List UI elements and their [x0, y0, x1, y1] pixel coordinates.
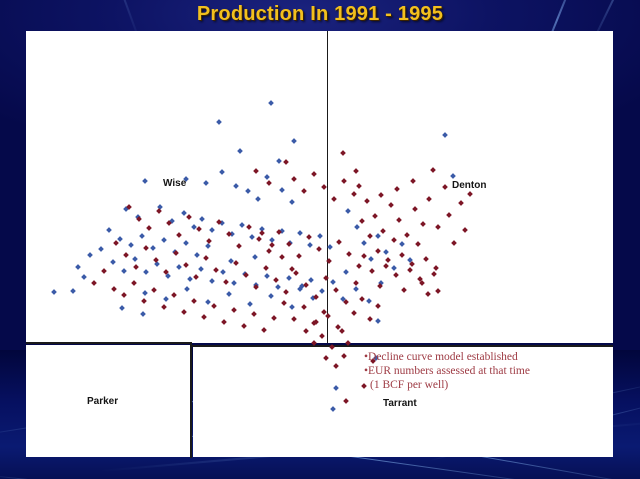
annotation-line: •EUR numbers assessed at that time: [364, 364, 604, 378]
county-border-denton-tarrant: [191, 345, 613, 347]
annotation-block: •Decline curve model established •EUR nu…: [364, 350, 604, 392]
county-border-wise-parker: [26, 342, 192, 344]
slide-root: Production In 1991 - 1995 Wise Denton Pa…: [0, 0, 640, 479]
county-label-denton: Denton: [452, 180, 486, 191]
background-swoosh-line: [0, 474, 278, 479]
annotation-line: •Decline curve model established: [364, 350, 604, 364]
county-border-wise-denton: [327, 31, 328, 343]
county-label-wise: Wise: [163, 178, 186, 189]
county-label-tarrant: Tarrant: [383, 398, 417, 409]
county-label-parker: Parker: [87, 396, 118, 407]
map-panel-north: [26, 31, 613, 343]
county-border-parker-tarrant: [190, 344, 192, 458]
annotation-line: (1 BCF per well): [364, 378, 604, 392]
slide-title: Production In 1991 - 1995: [0, 3, 640, 26]
